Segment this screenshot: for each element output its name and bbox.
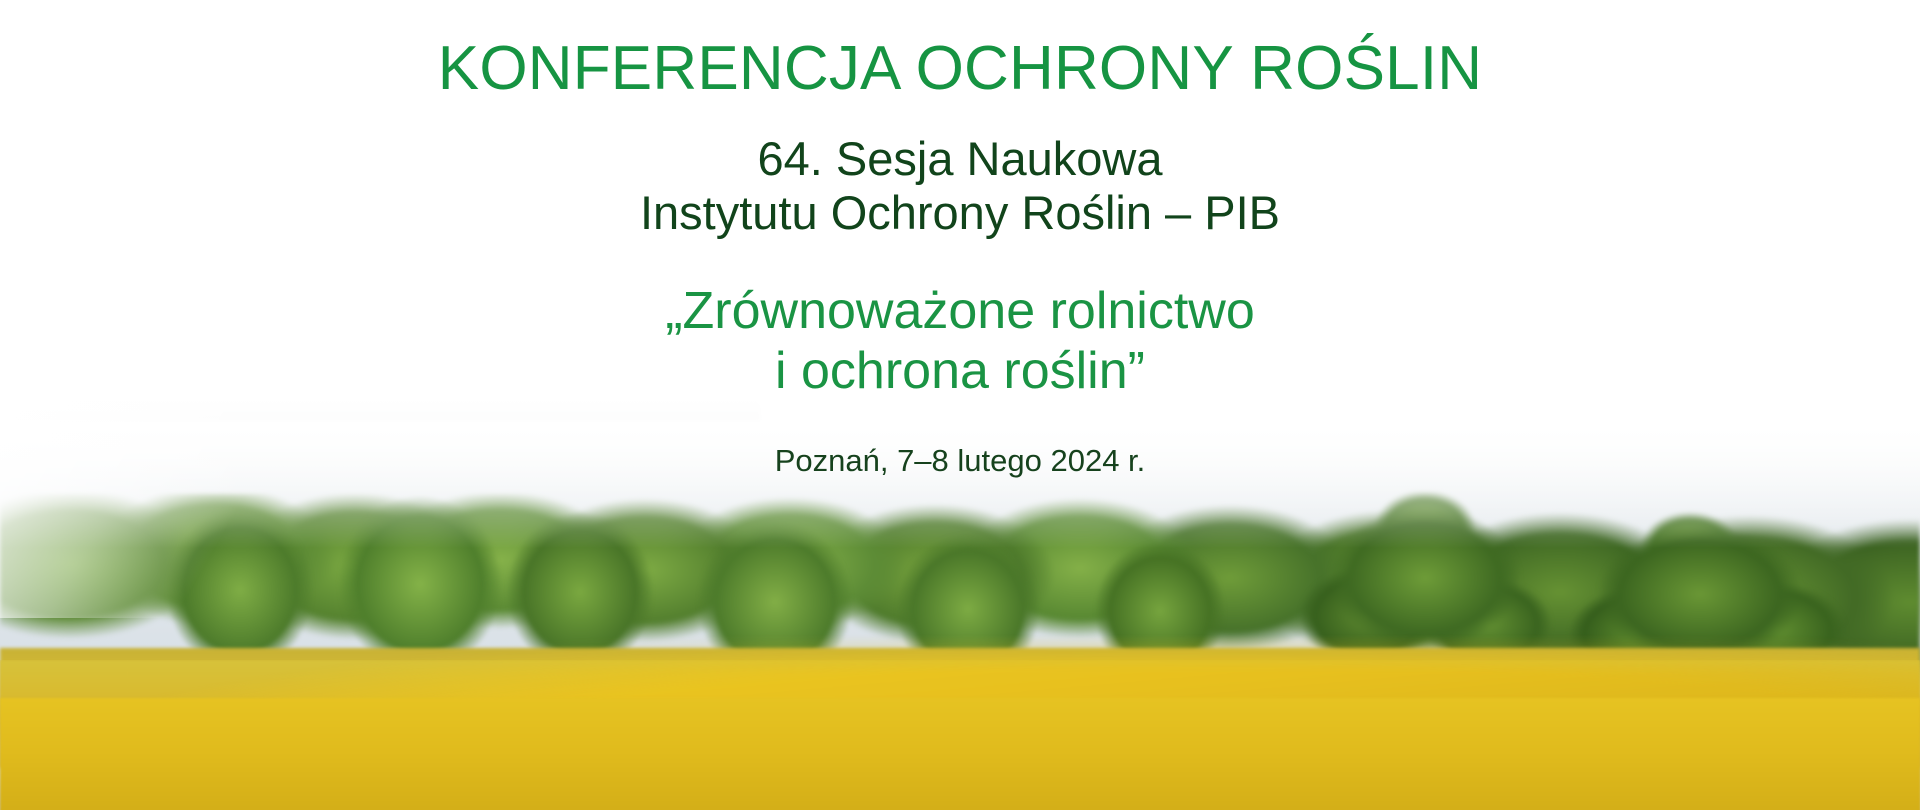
date-location-line: Poznań, 7–8 lutego 2024 r. bbox=[0, 443, 1920, 479]
theme-line-2: i ochrona roślin” bbox=[0, 341, 1920, 401]
theme-line-1: „Zrównoważone rolnictwo bbox=[0, 281, 1920, 341]
subtitle-line-2: Instytutu Ochrony Roślin – PIB bbox=[0, 186, 1920, 241]
conference-title-slide: KONFERENCJA OCHRONY ROŚLIN 64. Sesja Nau… bbox=[0, 0, 1920, 810]
subtitle-group: 64. Sesja Naukowa Instytutu Ochrony Rośl… bbox=[0, 132, 1920, 241]
subtitle-line-1: 64. Sesja Naukowa bbox=[0, 132, 1920, 187]
conference-theme-group: „Zrównoważone rolnictwo i ochrona roślin… bbox=[0, 281, 1920, 402]
slide-text-block: KONFERENCJA OCHRONY ROŚLIN 64. Sesja Nau… bbox=[0, 0, 1920, 479]
page-title: KONFERENCJA OCHRONY ROŚLIN bbox=[0, 0, 1920, 102]
